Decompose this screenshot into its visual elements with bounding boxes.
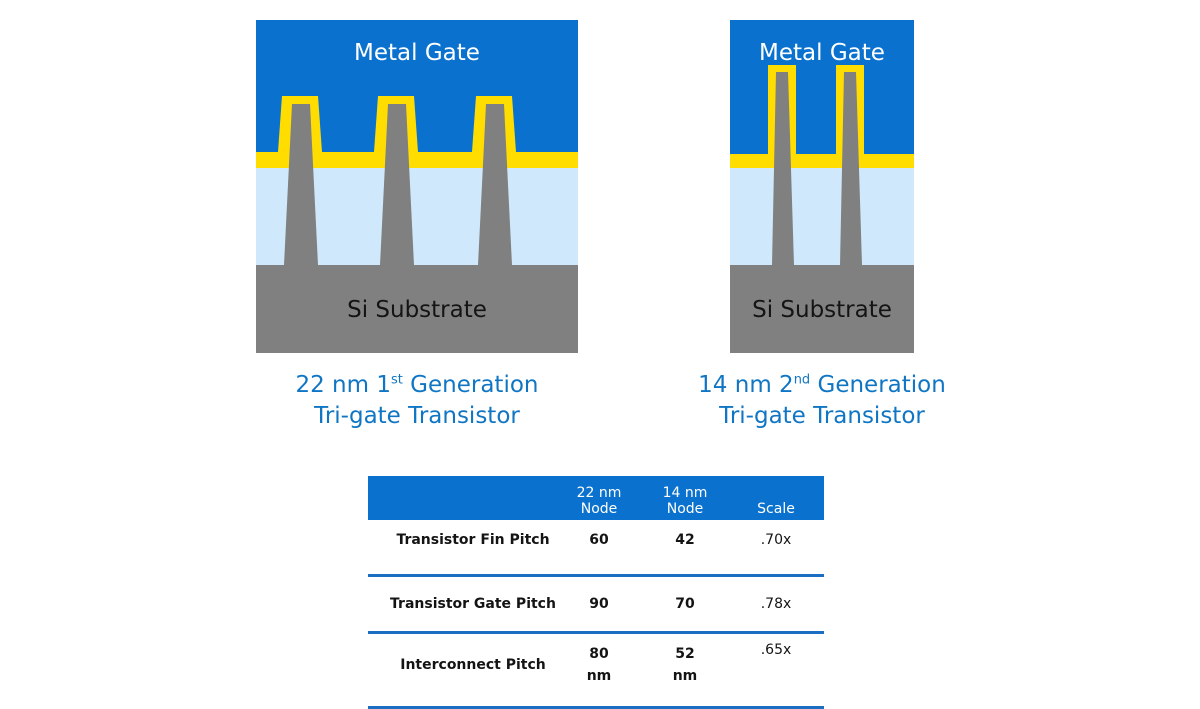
si-substrate-label-14nm: Si Substrate: [752, 297, 892, 323]
table-header-22nm-line2: Node: [556, 501, 642, 517]
cross-section-svg-22nm: Metal Gate Si Substrate: [256, 20, 578, 353]
metal-gate-label-22nm: Metal Gate: [354, 40, 480, 66]
row-label: Transistor Gate Pitch: [368, 596, 556, 612]
caption-22nm-line1: 22 nm 1st Generation: [256, 370, 578, 401]
caption-14nm-superscript: nd: [794, 372, 811, 387]
caption-22nm-line2: Tri-gate Transistor: [256, 401, 578, 432]
table-row: Transistor Gate Pitch 90 70 .78x: [368, 577, 824, 631]
caption-14nm-suffix: Generation: [810, 372, 946, 398]
diagram-panel-22nm: Metal Gate Si Substrate: [256, 20, 578, 353]
table-header-row: 22 nm Node 14 nm Node Scale: [368, 476, 824, 520]
table-header-14nm-line2: Node: [642, 501, 728, 517]
row-value-22nm: 80 nm: [556, 643, 642, 687]
row-value-14nm-unit: nm: [673, 665, 698, 687]
row-value-22nm: 60: [556, 532, 642, 548]
caption-22nm-suffix: Generation: [403, 372, 539, 398]
row-value-14nm-number: 52: [675, 643, 694, 665]
table-header-22nm-line1: 22 nm: [556, 485, 642, 501]
table-header-14nm: 14 nm Node: [642, 485, 728, 517]
scaling-comparison-table: 22 nm Node 14 nm Node Scale Transistor F…: [368, 476, 824, 709]
row-gap: [368, 560, 824, 574]
caption-22nm-superscript: st: [391, 372, 403, 387]
diagram-panel-14nm: Metal Gate Si Substrate: [730, 20, 914, 353]
slide-canvas: Metal Gate Si Substrate Metal Gate Si Su…: [0, 0, 1200, 680]
caption-14nm-prefix: 14 nm 2: [698, 372, 794, 398]
caption-14nm-line1: 14 nm 2nd Generation: [672, 370, 972, 401]
row-value-scale: .78x: [728, 596, 824, 612]
row-value-22nm-unit: nm: [587, 665, 612, 687]
table-header-14nm-line1: 14 nm: [642, 485, 728, 501]
row-value-14nm: 42: [642, 532, 728, 548]
si-substrate-label-22nm: Si Substrate: [347, 297, 487, 323]
row-label: Interconnect Pitch: [368, 657, 556, 673]
sti-oxide-region-14nm: [730, 168, 914, 265]
caption-14nm: 14 nm 2nd Generation Tri-gate Transistor: [672, 370, 972, 432]
row-value-22nm-number: 80: [589, 643, 608, 665]
row-value-14nm: 70: [642, 596, 728, 612]
table-header-22nm: 22 nm Node: [556, 485, 642, 517]
caption-22nm: 22 nm 1st Generation Tri-gate Transistor: [256, 370, 578, 432]
row-value-14nm: 52 nm: [642, 643, 728, 687]
cross-section-svg-14nm: Metal Gate Si Substrate: [730, 20, 914, 353]
table-header-scale: Scale: [728, 501, 824, 517]
row-gap: [368, 696, 824, 706]
table-row: Interconnect Pitch 80 nm 52 nm .65x: [368, 634, 824, 696]
row-value-scale: .65x: [728, 634, 824, 658]
table-row: Transistor Fin Pitch 60 42 .70x: [368, 520, 824, 560]
row-label: Transistor Fin Pitch: [368, 532, 556, 548]
row-value-22nm: 90: [556, 596, 642, 612]
table-header-scale-label: Scale: [728, 501, 824, 517]
metal-gate-label-14nm: Metal Gate: [759, 40, 885, 66]
caption-14nm-line2: Tri-gate Transistor: [672, 401, 972, 432]
caption-22nm-prefix: 22 nm 1: [295, 372, 391, 398]
row-value-scale: .70x: [728, 532, 824, 548]
